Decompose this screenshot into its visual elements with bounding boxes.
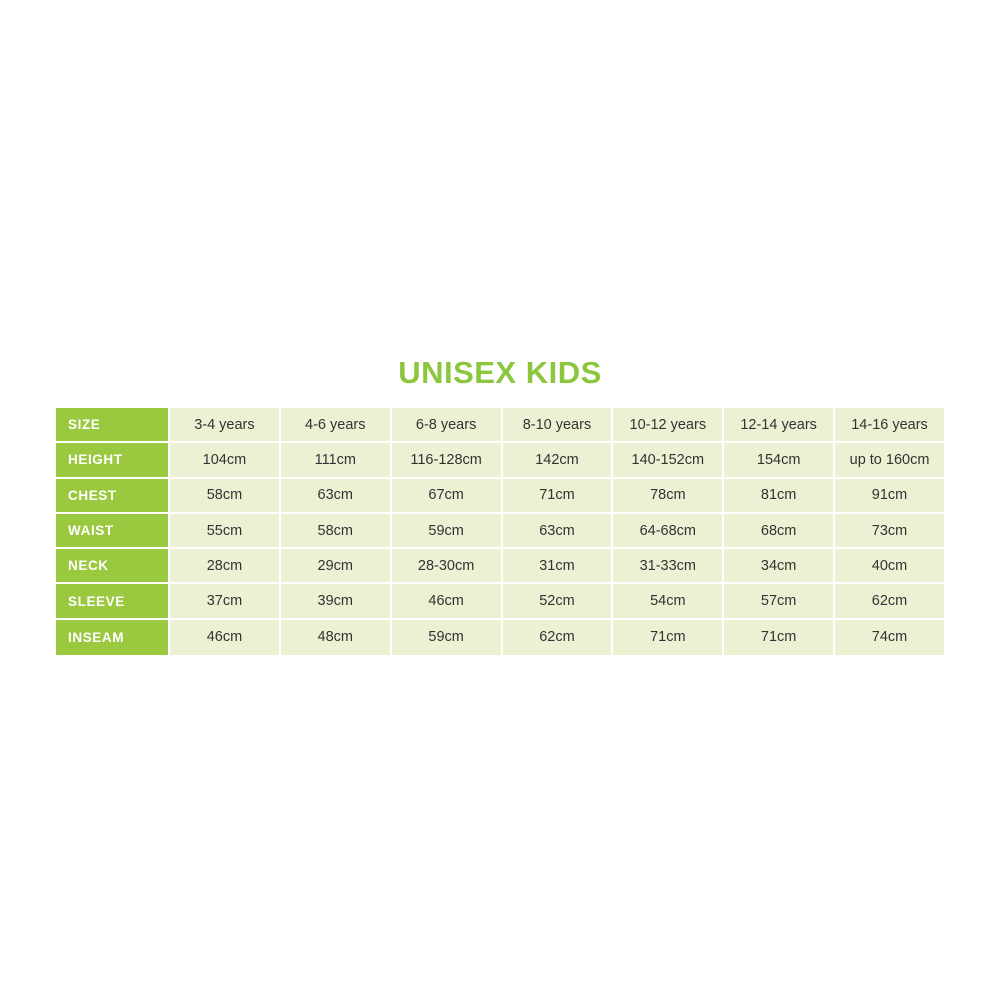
row-header-chest: CHEST [56,479,168,514]
table-row-sleeve: SLEEVE 37cm 39cm 46cm 52cm 54cm 57cm 62c… [56,584,944,619]
measurement-cell: 59cm [390,620,501,655]
measurement-cell: 67cm [390,479,501,514]
table-row-chest: CHEST 58cm 63cm 67cm 71cm 78cm 81cm 91cm [56,479,944,514]
measurement-cell: 52cm [501,584,612,619]
measurement-cell: 91cm [833,479,944,514]
column-header-cell: 4-6 years [279,408,390,443]
row-header-inseam: INSEAM [56,620,168,655]
measurement-cell: 54cm [611,584,722,619]
size-chart-table: SIZE 3-4 years 4-6 years 6-8 years 8-10 … [56,408,944,655]
measurement-cell: 74cm [833,620,944,655]
column-header-cell: 14-16 years [833,408,944,443]
measurement-cell: 58cm [279,514,390,549]
measurement-cell: 71cm [611,620,722,655]
row-header-neck: NECK [56,549,168,584]
measurement-cell: 46cm [168,620,279,655]
measurement-cell: 28-30cm [390,549,501,584]
measurement-cell: 59cm [390,514,501,549]
measurement-cell: 40cm [833,549,944,584]
measurement-cell: 28cm [168,549,279,584]
measurement-cell: 63cm [279,479,390,514]
table-row-inseam: INSEAM 46cm 48cm 59cm 62cm 71cm 71cm 74c… [56,620,944,655]
measurement-cell: 78cm [611,479,722,514]
column-header-cell: 8-10 years [501,408,612,443]
measurement-cell: 34cm [722,549,833,584]
measurement-cell: 73cm [833,514,944,549]
table-row-neck: NECK 28cm 29cm 28-30cm 31cm 31-33cm 34cm… [56,549,944,584]
row-header-waist: WAIST [56,514,168,549]
measurement-cell: 46cm [390,584,501,619]
table-row-waist: WAIST 55cm 58cm 59cm 63cm 64-68cm 68cm 7… [56,514,944,549]
table-row-height: HEIGHT 104cm 111cm 116-128cm 142cm 140-1… [56,443,944,478]
measurement-cell: 63cm [501,514,612,549]
measurement-cell: 68cm [722,514,833,549]
measurement-cell: 29cm [279,549,390,584]
measurement-cell: 64-68cm [611,514,722,549]
measurement-cell: 48cm [279,620,390,655]
measurement-cell: 62cm [833,584,944,619]
row-header-size: SIZE [56,408,168,443]
measurement-cell: 37cm [168,584,279,619]
measurement-cell: 31cm [501,549,612,584]
measurement-cell: 39cm [279,584,390,619]
measurement-cell: 142cm [501,443,612,478]
measurement-cell: 71cm [501,479,612,514]
measurement-cell: 154cm [722,443,833,478]
column-header-cell: 10-12 years [611,408,722,443]
measurement-cell: 31-33cm [611,549,722,584]
measurement-cell: 111cm [279,443,390,478]
measurement-cell: 81cm [722,479,833,514]
column-header-cell: 3-4 years [168,408,279,443]
measurement-cell: 57cm [722,584,833,619]
row-header-sleeve: SLEEVE [56,584,168,619]
size-chart-page: UNISEX KIDS SIZE 3-4 years 4-6 years 6-8… [0,0,1000,1000]
measurement-cell: 55cm [168,514,279,549]
page-title: UNISEX KIDS [0,357,1000,388]
measurement-cell: 58cm [168,479,279,514]
column-header-cell: 6-8 years [390,408,501,443]
measurement-cell: 140-152cm [611,443,722,478]
measurement-cell: 116-128cm [390,443,501,478]
table-row-size: SIZE 3-4 years 4-6 years 6-8 years 8-10 … [56,408,944,443]
measurement-cell: 62cm [501,620,612,655]
table-body: SIZE 3-4 years 4-6 years 6-8 years 8-10 … [56,408,944,655]
measurement-cell: 104cm [168,443,279,478]
row-header-height: HEIGHT [56,443,168,478]
column-header-cell: 12-14 years [722,408,833,443]
measurement-cell: 71cm [722,620,833,655]
measurement-cell: up to 160cm [833,443,944,478]
